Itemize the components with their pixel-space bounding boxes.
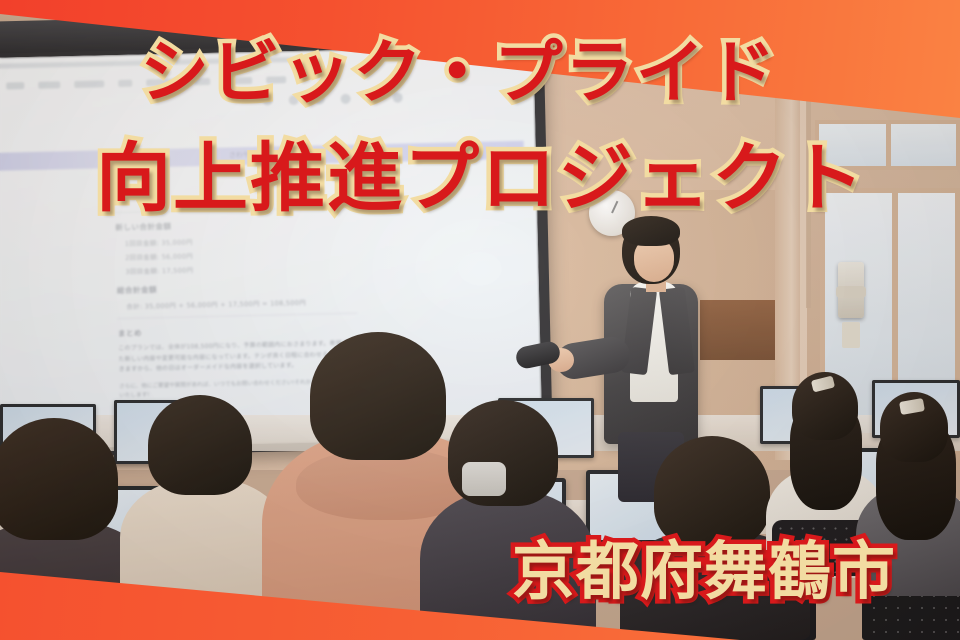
doc-list-item: 3回目金額: 17,500円 xyxy=(125,261,356,276)
doc-divider xyxy=(118,313,358,319)
doc-divider xyxy=(115,207,355,213)
bookmark-item xyxy=(146,79,180,87)
attendee-face-mask xyxy=(462,462,506,496)
toolbar-icon xyxy=(315,94,325,104)
phone-handset xyxy=(836,286,866,298)
bookmark-item xyxy=(266,76,286,83)
bookmark-item xyxy=(38,81,60,88)
doc-section-title: まとめ xyxy=(118,323,358,339)
doc-section-title: 総合計金額 xyxy=(117,280,357,296)
toolbar-icon xyxy=(263,95,273,105)
toolbar-icon xyxy=(289,95,299,105)
wall-conduit-vertical xyxy=(806,58,811,308)
browser-bookmarks-bar xyxy=(0,71,486,92)
doc-section-title: 新しい合計金額 xyxy=(115,217,355,233)
attendee-head xyxy=(654,436,770,548)
browser-url-bar xyxy=(0,57,298,69)
bookmark-item xyxy=(118,80,132,87)
presenter-hair-front xyxy=(622,216,680,246)
attendee-head xyxy=(0,418,118,540)
projected-doc-subheading: さわやかギフトセット xyxy=(229,149,299,161)
background-photo: の計画 さわやかギフトセット 新しい合計金額 1回目金額: 35,000円 2回… xyxy=(0,0,960,640)
bookmark-item xyxy=(6,82,24,89)
doc-list-item: 1回目金額: 35,000円 xyxy=(125,233,356,248)
attendee-body xyxy=(420,490,596,640)
bookmark-item xyxy=(74,80,104,88)
browser-toolbar-icons xyxy=(263,91,493,106)
poster-root: の計画 さわやかギフトセット 新しい合計金額 1回目金額: 35,000円 2回… xyxy=(0,0,960,640)
doc-list-item: 合計: 35,000円 + 56,000円 + 17,500円 = 108,50… xyxy=(126,296,357,311)
attendee-head xyxy=(310,332,446,460)
toolbar-icon xyxy=(393,93,403,103)
phone-wall-plate xyxy=(842,322,860,348)
projected-screen: の計画 さわやかギフトセット 新しい合計金額 1回目金額: 35,000円 2回… xyxy=(0,46,542,451)
bookmark-item xyxy=(194,78,210,85)
toolbar-icon xyxy=(367,93,377,103)
bookmark-item xyxy=(224,77,252,85)
attendee-head xyxy=(148,395,252,495)
door-transom-mullion xyxy=(886,120,891,170)
wall-conduit-horizontal xyxy=(780,58,810,63)
doc-list-item: 2回目金額: 56,000円 xyxy=(125,247,356,262)
toolbar-icon xyxy=(341,94,351,104)
